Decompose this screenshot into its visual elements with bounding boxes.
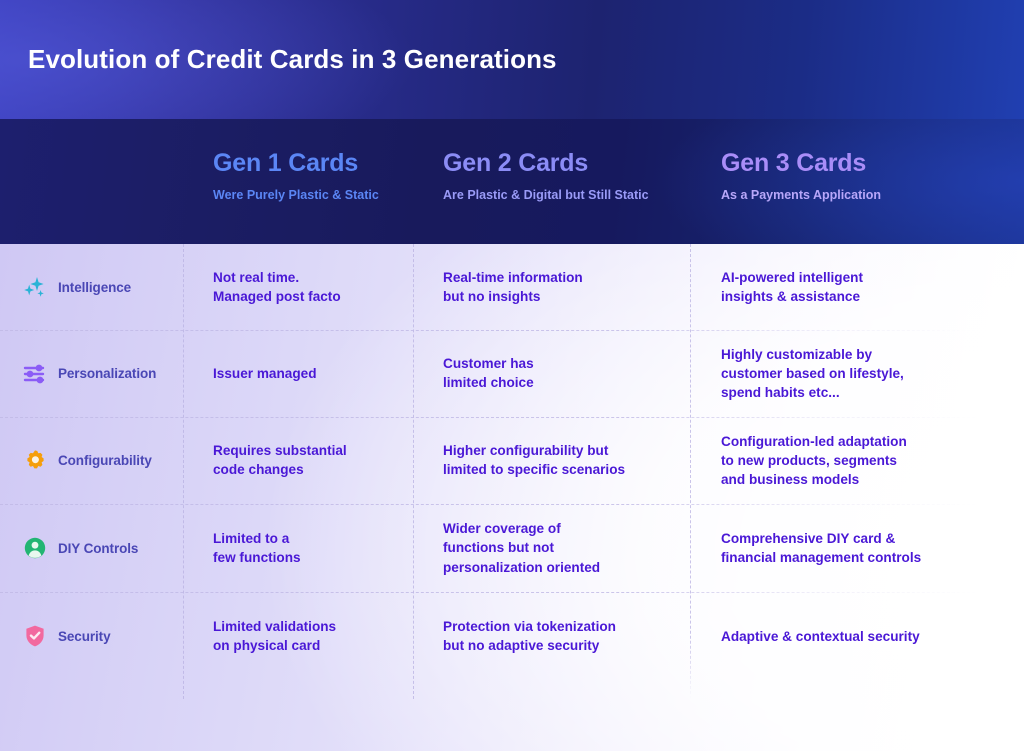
row-label-configurability: Configurability [22, 448, 183, 474]
row-divider [0, 417, 1010, 418]
table-row: Personalization Issuer managed Customer … [0, 330, 1024, 417]
column-header-gen2: Gen 2 Cards Are Plastic & Digital but St… [443, 150, 649, 204]
column-header-gen3-subtitle: As a Payments Application [721, 187, 881, 204]
cell-diy-controls-gen1: Limited to a few functions [213, 529, 409, 568]
gear-icon [22, 448, 48, 474]
row-label-text: DIY Controls [58, 541, 138, 556]
row-label-text: Configurability [58, 453, 152, 468]
cell-security-gen1: Limited validations on physical card [213, 617, 409, 656]
cell-intelligence-gen3: AI-powered intelligent insights & assist… [721, 268, 1006, 307]
cell-diy-controls-gen3: Comprehensive DIY card & financial manag… [721, 529, 1006, 568]
sliders-icon [22, 361, 48, 387]
column-header-gen1-subtitle: Were Purely Plastic & Static [213, 187, 379, 204]
cell-diy-controls-gen2: Wider coverage of functions but not pers… [443, 519, 687, 577]
row-label-text: Intelligence [58, 280, 131, 295]
column-header-gen1-title: Gen 1 Cards [213, 150, 379, 178]
cell-security-gen3: Adaptive & contextual security [721, 627, 1006, 646]
row-label-text: Security [58, 629, 110, 644]
cell-intelligence-gen2: Real-time information but no insights [443, 268, 687, 307]
infographic-root: Evolution of Credit Cards in 3 Generatio… [0, 0, 1024, 751]
row-divider [0, 592, 1010, 593]
column-header-gen2-subtitle: Are Plastic & Digital but Still Static [443, 187, 649, 204]
column-header-gen3: Gen 3 Cards As a Payments Application [721, 150, 881, 204]
table-row: DIY Controls Limited to a few functions … [0, 504, 1024, 592]
user-circle-icon [22, 535, 48, 561]
column-header-gen3-title: Gen 3 Cards [721, 150, 881, 178]
cell-configurability-gen3: Configuration-led adaptation to new prod… [721, 432, 1006, 490]
row-label-personalization: Personalization [22, 361, 183, 387]
row-label-diy-controls: DIY Controls [22, 535, 183, 561]
sparkles-icon [22, 274, 48, 300]
table-row: Intelligence Not real time. Managed post… [0, 244, 1024, 330]
cell-intelligence-gen1: Not real time. Managed post facto [213, 268, 409, 307]
cell-personalization-gen3: Highly customizable by customer based on… [721, 345, 1006, 403]
row-label-text: Personalization [58, 366, 156, 381]
column-header-gen2-title: Gen 2 Cards [443, 150, 649, 178]
cell-configurability-gen2: Higher configurability but limited to sp… [443, 441, 687, 480]
row-divider [0, 504, 1010, 505]
cell-security-gen2: Protection via tokenization but no adapt… [443, 617, 687, 656]
table-row: Configurability Requires substantial cod… [0, 417, 1024, 504]
cell-configurability-gen1: Requires substantial code changes [213, 441, 409, 480]
row-label-intelligence: Intelligence [22, 274, 183, 300]
column-header-gen1: Gen 1 Cards Were Purely Plastic & Static [213, 150, 379, 204]
comparison-grid: Intelligence Not real time. Managed post… [0, 244, 1024, 699]
cell-personalization-gen2: Customer has limited choice [443, 354, 687, 393]
shield-check-icon [22, 623, 48, 649]
cell-personalization-gen1: Issuer managed [213, 364, 409, 383]
row-label-security: Security [22, 623, 183, 649]
table-row: Security Limited validations on physical… [0, 592, 1024, 680]
page-title: Evolution of Credit Cards in 3 Generatio… [28, 44, 557, 75]
row-divider [0, 330, 1010, 331]
